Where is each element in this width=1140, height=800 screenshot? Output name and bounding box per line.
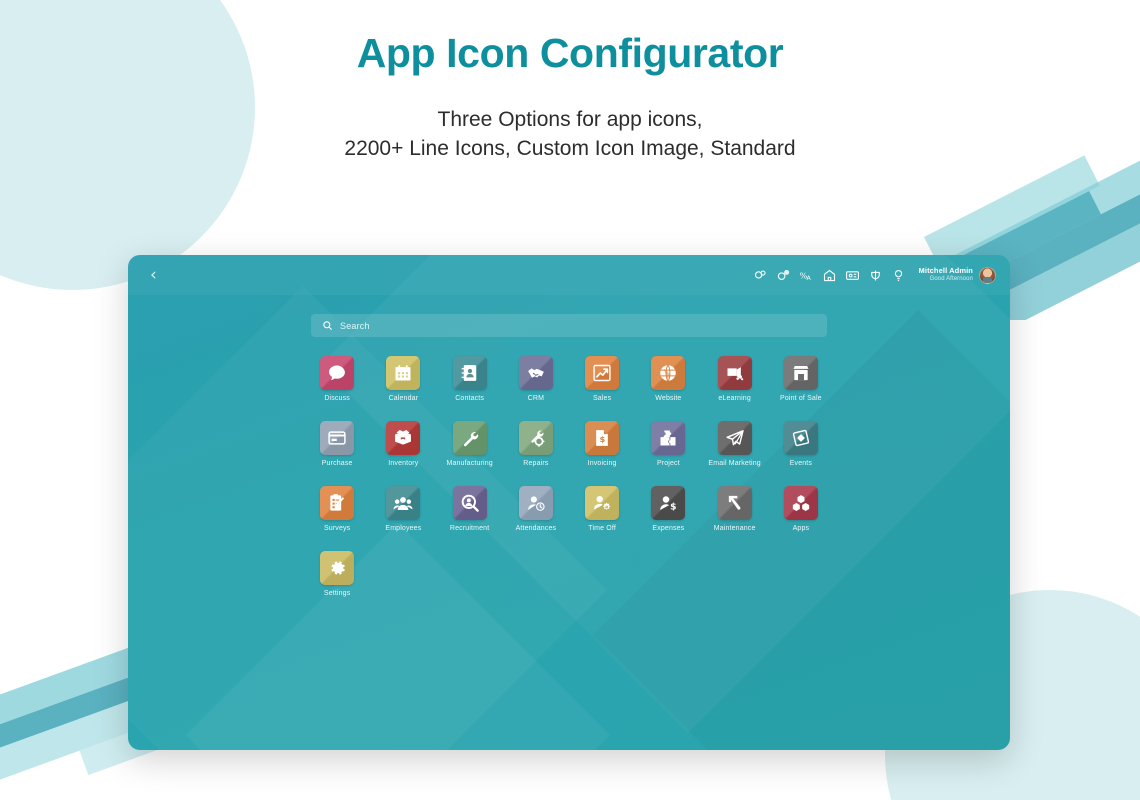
app-tile[interactable] [320, 551, 354, 585]
search-icon [322, 320, 333, 331]
app-tile[interactable] [519, 356, 553, 390]
app-item-repairs[interactable]: Repairs [503, 421, 569, 467]
app-item-maintenance[interactable]: Maintenance [702, 486, 768, 532]
app-label: Surveys [324, 525, 350, 532]
apps-icon [791, 493, 811, 513]
app-label: Website [655, 395, 681, 402]
page-subtitle: Three Options for app icons, 2200+ Line … [0, 105, 1140, 163]
app-tile[interactable] [784, 356, 818, 390]
app-label: CRM [528, 395, 544, 402]
app-label: Repairs [523, 460, 548, 467]
time-off-icon [592, 493, 612, 513]
search-input[interactable]: Search [311, 314, 827, 337]
events-icon [791, 428, 811, 448]
app-item-expenses[interactable]: $Expenses [635, 486, 701, 532]
enterprise-upgrade-icon[interactable] [822, 268, 837, 283]
app-item-employees[interactable]: Employees [370, 486, 436, 532]
app-label: Calendar [389, 395, 419, 402]
sales-icon [592, 363, 612, 383]
app-item-settings[interactable]: Settings [304, 551, 370, 597]
app-item-point-of-sale[interactable]: Point of Sale [768, 356, 834, 402]
app-label: Discuss [324, 395, 350, 402]
search-placeholder: Search [340, 321, 370, 331]
subtitle-line-1: Three Options for app icons, [0, 105, 1140, 134]
app-tile[interactable] [453, 486, 487, 520]
app-item-contacts[interactable]: Contacts [437, 356, 503, 402]
app-tile[interactable] [519, 421, 553, 455]
user-menu[interactable]: Mitchell Admin Good Afternoon [919, 267, 996, 284]
app-item-manufacturing[interactable]: Manufacturing [437, 421, 503, 467]
app-item-attendances[interactable]: Attendances [503, 486, 569, 532]
user-name: Mitchell Admin [919, 267, 973, 276]
app-item-discuss[interactable]: Discuss [304, 356, 370, 402]
employees-icon [393, 493, 413, 513]
contacts-icon [460, 363, 480, 383]
app-label: Settings [324, 590, 351, 597]
app-label: Purchase [322, 460, 353, 467]
app-tile[interactable] [651, 356, 685, 390]
app-label: Events [790, 460, 812, 467]
discuss-icon [327, 363, 347, 383]
user-names: Mitchell Admin Good Afternoon [919, 267, 973, 283]
attendance-kiosk-icon[interactable] [845, 268, 860, 283]
app-tile[interactable] [519, 486, 553, 520]
app-label: eLearning [718, 395, 751, 402]
app-tile[interactable] [320, 356, 354, 390]
manufacturing-icon [460, 428, 480, 448]
debug-icon[interactable] [868, 268, 883, 283]
avatar[interactable] [979, 267, 996, 284]
app-tile[interactable] [386, 356, 420, 390]
subtitle-line-2: 2200+ Line Icons, Custom Icon Image, Sta… [0, 134, 1140, 163]
app-tile[interactable]: $ [651, 486, 685, 520]
app-tile[interactable] [784, 421, 818, 455]
app-item-sales[interactable]: Sales [569, 356, 635, 402]
app-item-project[interactable]: Project [635, 421, 701, 467]
app-label: Point of Sale [780, 395, 822, 402]
repairs-icon [526, 428, 546, 448]
app-item-invoicing[interactable]: $Invoicing [569, 421, 635, 467]
app-item-email-marketing[interactable]: Email Marketing [702, 421, 768, 467]
purchase-icon [327, 428, 347, 448]
app-label: Recruitment [450, 525, 489, 532]
app-tile[interactable] [585, 486, 619, 520]
systray: % A [753, 267, 996, 284]
recruitment-icon [460, 493, 480, 513]
app-item-elearning[interactable]: eLearning [702, 356, 768, 402]
app-label: Project [657, 460, 680, 467]
app-tile[interactable] [651, 421, 685, 455]
translate-icon[interactable]: % A [799, 268, 814, 283]
maintenance-icon [725, 493, 745, 513]
app-tile[interactable] [718, 486, 752, 520]
app-label: Sales [593, 395, 611, 402]
app-tile[interactable] [718, 356, 752, 390]
app-label: Apps [793, 525, 810, 532]
app-label: Attendances [516, 525, 557, 532]
app-label: Maintenance [714, 525, 756, 532]
app-grid: DiscussCalendarContactsCRMSalesWebsiteeL… [304, 356, 834, 597]
app-label: Invoicing [588, 460, 617, 467]
app-tile[interactable]: $ [585, 421, 619, 455]
app-label: Expenses [652, 525, 684, 532]
app-tile[interactable] [784, 486, 818, 520]
app-label: Email Marketing [708, 460, 760, 467]
app-tile[interactable] [453, 421, 487, 455]
surveys-icon [327, 493, 347, 513]
app-tile[interactable] [585, 356, 619, 390]
invoicing-icon: $ [592, 428, 612, 448]
user-greeting: Good Afternoon [919, 276, 973, 283]
page-title: App Icon Configurator [0, 30, 1140, 77]
messages-icon[interactable] [776, 268, 791, 283]
svg-text:$: $ [600, 434, 606, 444]
app-item-calendar[interactable]: Calendar [370, 356, 436, 402]
svg-text:A: A [806, 274, 811, 281]
elearning-icon [725, 363, 745, 383]
app-tile[interactable] [320, 421, 354, 455]
app-item-events[interactable]: Events [768, 421, 834, 467]
activities-icon[interactable] [753, 268, 768, 283]
search-row: Search [128, 295, 1010, 337]
app-label: Contacts [455, 395, 484, 402]
svg-text:$: $ [671, 502, 677, 513]
app-item-website[interactable]: Website [635, 356, 701, 402]
app-item-time-off[interactable]: Time Off [569, 486, 635, 532]
project-icon [658, 428, 678, 448]
settings-icon [327, 558, 347, 578]
app-item-inventory[interactable]: Inventory [370, 421, 436, 467]
app-window: ‹ % A [128, 255, 1010, 750]
app-item-recruitment[interactable]: Recruitment [437, 486, 503, 532]
attendances-icon [526, 493, 546, 513]
tips-icon[interactable] [891, 268, 906, 283]
app-item-apps[interactable]: Apps [768, 486, 834, 532]
page-root: App Icon Configurator Three Options for … [0, 0, 1140, 800]
app-tile[interactable] [386, 421, 420, 455]
app-item-crm[interactable]: CRM [503, 356, 569, 402]
expenses-icon: $ [658, 493, 678, 513]
window-topbar: ‹ % A [128, 255, 1010, 295]
website-icon [658, 363, 678, 383]
app-tile[interactable] [718, 421, 752, 455]
app-tile[interactable] [320, 486, 354, 520]
point-of-sale-icon [791, 363, 811, 383]
back-button[interactable]: ‹ [150, 267, 157, 284]
calendar-icon [393, 363, 413, 383]
app-tile[interactable] [386, 486, 420, 520]
inventory-icon [393, 428, 413, 448]
app-item-surveys[interactable]: Surveys [304, 486, 370, 532]
app-label: Employees [385, 525, 421, 532]
app-label: Manufacturing [446, 460, 492, 467]
crm-icon [526, 363, 546, 383]
app-item-purchase[interactable]: Purchase [304, 421, 370, 467]
app-label: Time Off [588, 525, 616, 532]
app-label: Inventory [388, 460, 418, 467]
app-tile[interactable] [453, 356, 487, 390]
email-marketing-icon [725, 428, 745, 448]
